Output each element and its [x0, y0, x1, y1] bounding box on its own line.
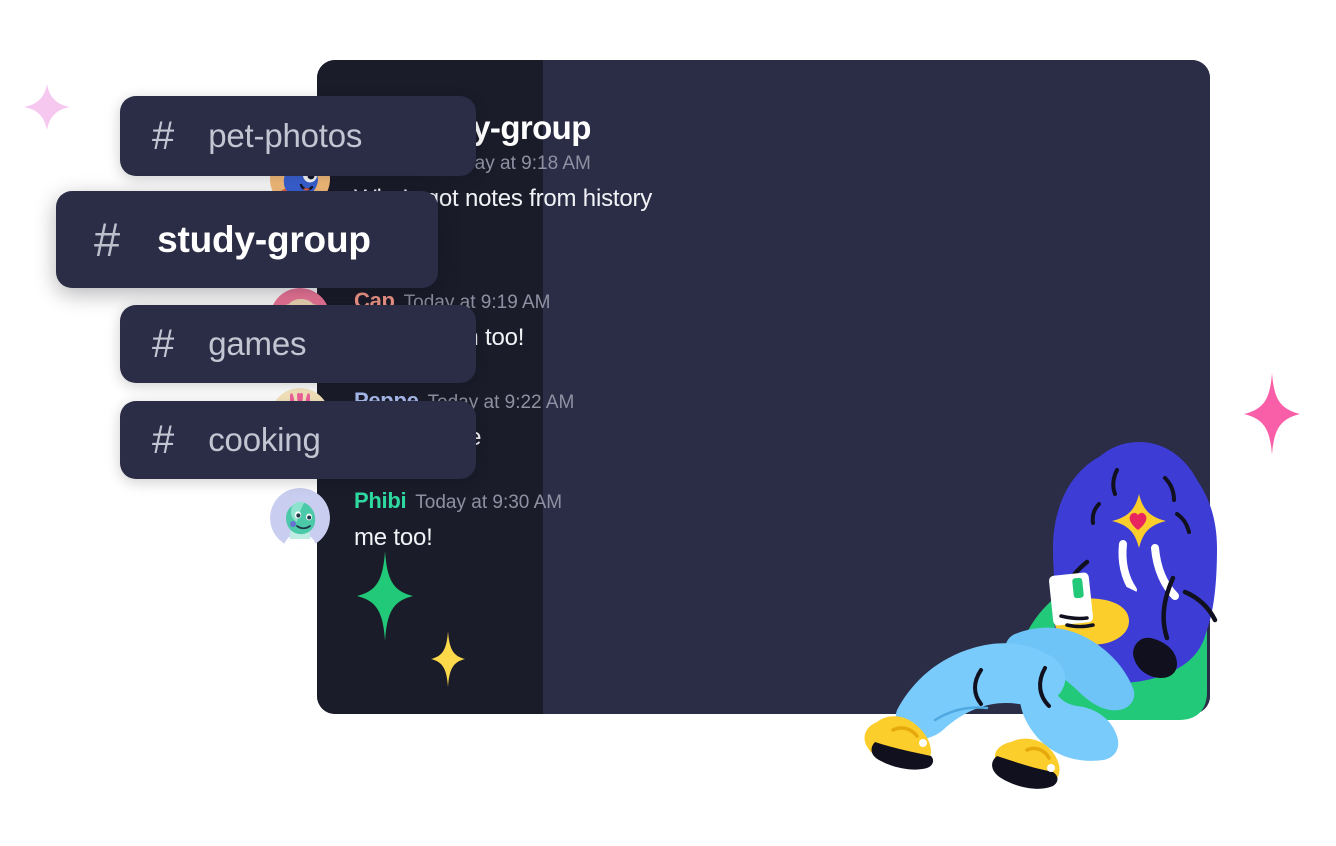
- sidebar-item-cooking[interactable]: # cooking: [120, 401, 476, 479]
- sidebar-item-study-group[interactable]: # study-group: [56, 191, 438, 288]
- person-on-phone-illustration: [855, 420, 1255, 810]
- message-timestamp: Today at 9:30 AM: [415, 492, 562, 514]
- sidebar-item-games[interactable]: # games: [120, 305, 476, 383]
- sidebar-item-label: cooking: [208, 421, 320, 459]
- sidebar-item-label: games: [208, 325, 306, 363]
- hash-icon: #: [152, 324, 173, 364]
- hash-icon: #: [94, 216, 119, 263]
- message-item: Phibi Today at 9:30 AM me too!: [270, 486, 700, 558]
- sidebar-item-label: study-group: [157, 219, 371, 261]
- message-body: Phibi Today at 9:30 AM me too!: [354, 486, 562, 558]
- hash-icon: #: [152, 116, 173, 156]
- illustration-canvas: # study-group: [0, 0, 1336, 846]
- sparkle-yellow-icon: [430, 630, 466, 688]
- sparkle-pink-light-icon: [23, 83, 71, 131]
- hash-icon: #: [152, 420, 173, 460]
- message-author[interactable]: Phibi: [354, 488, 406, 514]
- sidebar-item-label: pet-photos: [208, 117, 362, 155]
- sidebar-item-pet-photos[interactable]: # pet-photos: [120, 96, 476, 176]
- sparkle-green-icon: [356, 550, 414, 642]
- frog-avatar: [270, 488, 330, 548]
- message-meta: Phibi Today at 9:30 AM: [354, 488, 562, 514]
